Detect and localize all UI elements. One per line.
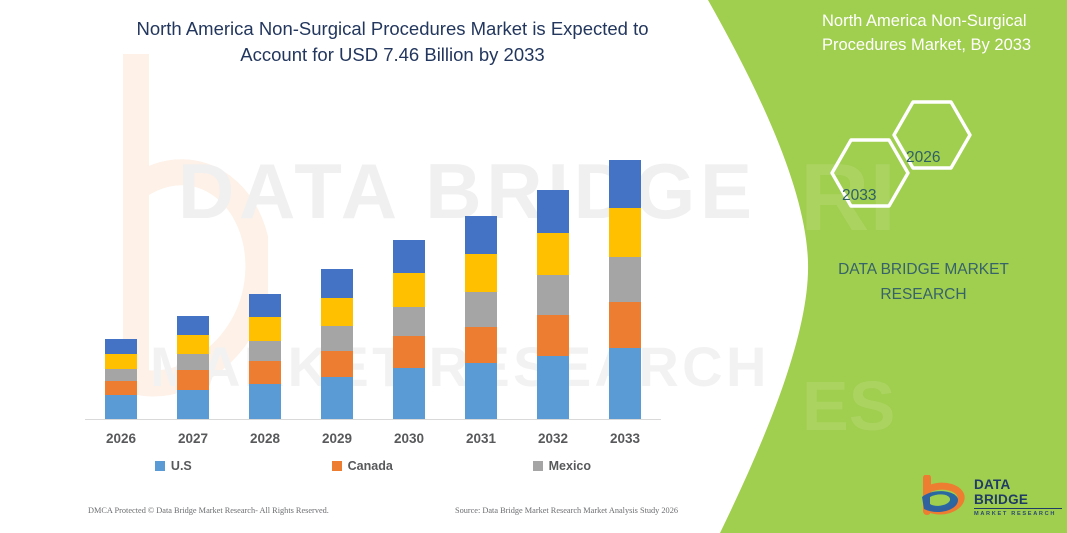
bar-segment-series-5[interactable]	[321, 269, 353, 298]
bar-segment-u-s[interactable]	[105, 395, 137, 419]
bar-segment-mexico[interactable]	[393, 307, 425, 337]
bar-column-2030	[373, 79, 445, 419]
chart-legend: U.SCanadaMexico	[85, 459, 661, 473]
logo-wordmark: DATA BRIDGE MARKET RESEARCH	[974, 477, 1062, 517]
bar-segment-u-s[interactable]	[177, 390, 209, 419]
x-axis-label-2026: 2026	[85, 431, 157, 446]
bar-segment-canada[interactable]	[321, 351, 353, 377]
bar-segment-u-s[interactable]	[393, 368, 425, 419]
bar-segment-u-s[interactable]	[321, 377, 353, 419]
bar-segment-series-5[interactable]	[105, 339, 137, 353]
logo-sub-text: MARKET RESEARCH	[974, 511, 1062, 517]
bar-segment-series-4[interactable]	[393, 273, 425, 306]
bar-column-2031	[445, 79, 517, 419]
legend-label: Canada	[348, 459, 393, 473]
bar-segment-series-4[interactable]	[105, 354, 137, 370]
bar-segment-u-s[interactable]	[465, 363, 497, 419]
bar-segment-series-4[interactable]	[177, 335, 209, 354]
bar-column-2029	[301, 79, 373, 419]
stacked-bar[interactable]	[105, 339, 137, 419]
stacked-bar-group	[85, 79, 661, 419]
x-axis-labels: 20262027202820292030203120322033	[85, 431, 661, 446]
footer-copyright: DMCA Protected © Data Bridge Market Rese…	[88, 506, 329, 515]
bar-segment-series-4[interactable]	[249, 317, 281, 340]
bar-segment-mexico[interactable]	[465, 292, 497, 327]
bar-segment-series-4[interactable]	[609, 208, 641, 257]
bar-segment-series-5[interactable]	[249, 294, 281, 318]
legend-item-u-s[interactable]: U.S	[155, 459, 192, 473]
bar-segment-series-5[interactable]	[177, 316, 209, 335]
legend-label: Mexico	[549, 459, 591, 473]
bar-segment-canada[interactable]	[609, 302, 641, 349]
hexagon-2026-label: 2026	[906, 149, 940, 167]
svg-text:ES: ES	[802, 367, 895, 445]
bar-column-2027	[157, 79, 229, 419]
hexagon-group: 2026 2033	[820, 98, 1000, 218]
hexagon-2033-label: 2033	[842, 187, 876, 205]
bar-segment-u-s[interactable]	[249, 384, 281, 419]
legend-swatch-icon	[332, 461, 342, 471]
x-axis-label-2028: 2028	[229, 431, 301, 446]
bar-segment-series-4[interactable]	[321, 298, 353, 326]
stacked-bar[interactable]	[321, 269, 353, 419]
bar-segment-canada[interactable]	[537, 315, 569, 356]
bar-segment-canada[interactable]	[393, 336, 425, 368]
databridge-b-mark-icon	[916, 475, 970, 515]
panel-title: North America Non-Surgical Procedures Ma…	[822, 9, 1062, 57]
x-axis-label-2032: 2032	[517, 431, 589, 446]
bar-segment-u-s[interactable]	[609, 348, 641, 419]
stacked-bar[interactable]	[177, 316, 209, 419]
x-axis-label-2029: 2029	[301, 431, 373, 446]
bar-segment-mexico[interactable]	[609, 257, 641, 301]
bar-column-2026	[85, 79, 157, 419]
chart-plot-area	[85, 60, 665, 420]
bar-segment-series-4[interactable]	[465, 254, 497, 292]
bar-segment-series-5[interactable]	[393, 240, 425, 274]
x-axis-label-2031: 2031	[445, 431, 517, 446]
x-axis-line	[85, 419, 661, 420]
bar-column-2032	[517, 79, 589, 419]
bar-segment-canada[interactable]	[249, 361, 281, 383]
legend-label: U.S	[171, 459, 192, 473]
panel-brand-text: DATA BRIDGE MARKET RESEARCH	[800, 258, 1047, 308]
bar-segment-mexico[interactable]	[177, 354, 209, 370]
bar-segment-mexico[interactable]	[105, 369, 137, 381]
footer-source: Source: Data Bridge Market Research Mark…	[455, 506, 678, 515]
legend-swatch-icon	[155, 461, 165, 471]
bar-segment-series-4[interactable]	[537, 233, 569, 276]
bar-segment-series-5[interactable]	[537, 190, 569, 233]
legend-swatch-icon	[533, 461, 543, 471]
bar-segment-series-5[interactable]	[609, 160, 641, 208]
stacked-bar[interactable]	[465, 216, 497, 419]
legend-item-mexico[interactable]: Mexico	[533, 459, 591, 473]
stacked-bar[interactable]	[609, 160, 641, 419]
bar-segment-mexico[interactable]	[537, 275, 569, 315]
x-axis-label-2027: 2027	[157, 431, 229, 446]
x-axis-label-2030: 2030	[373, 431, 445, 446]
bar-segment-mexico[interactable]	[249, 341, 281, 362]
stacked-bar[interactable]	[537, 190, 569, 419]
databridge-logo: DATA BRIDGE MARKET RESEARCH	[916, 475, 1062, 515]
bar-segment-canada[interactable]	[465, 327, 497, 363]
stacked-bar[interactable]	[393, 240, 425, 420]
legend-item-canada[interactable]: Canada	[332, 459, 393, 473]
bar-segment-mexico[interactable]	[321, 326, 353, 351]
bar-segment-canada[interactable]	[105, 381, 137, 395]
bar-column-2028	[229, 79, 301, 419]
infographic-canvas: DATA BRIDGE MARKET RESEARCH North Americ…	[0, 0, 1067, 533]
bar-segment-series-5[interactable]	[465, 216, 497, 254]
footer: DMCA Protected © Data Bridge Market Rese…	[88, 506, 678, 515]
bar-segment-u-s[interactable]	[537, 356, 569, 419]
logo-main-text: DATA BRIDGE	[974, 477, 1062, 509]
stacked-bar[interactable]	[249, 294, 281, 420]
bar-segment-canada[interactable]	[177, 370, 209, 390]
